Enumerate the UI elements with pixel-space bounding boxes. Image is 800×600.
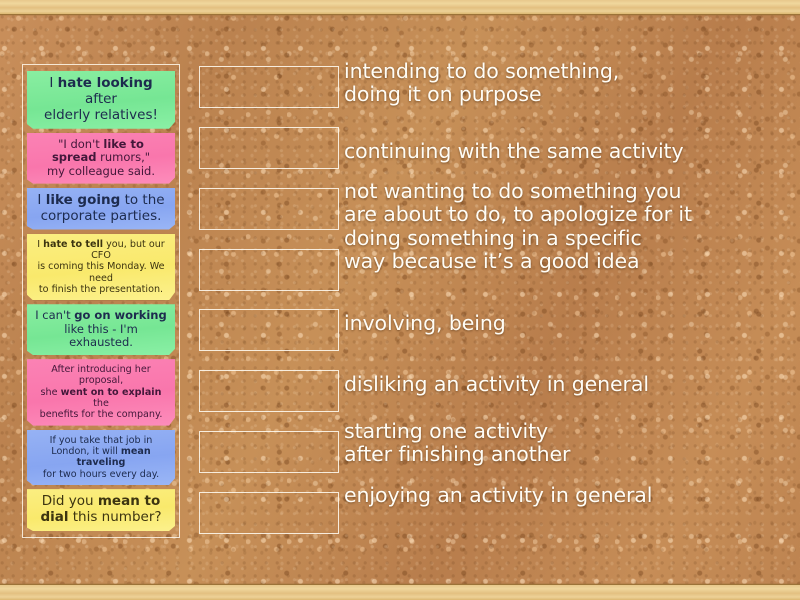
card-text: for two hours every day. — [43, 469, 159, 480]
card-keyword: like going — [46, 192, 121, 208]
card-line: like this - I'm exhausted. — [34, 323, 168, 350]
card-line: my colleague said. — [34, 165, 168, 179]
draggable-card[interactable]: Did you mean todial this number? — [27, 489, 175, 531]
definition-list: intending to do something, doing it on p… — [344, 60, 794, 530]
answer-dropzone[interactable] — [199, 66, 339, 108]
card-keyword: dial — [40, 509, 68, 525]
card-text: she — [41, 387, 61, 398]
answer-dropzone[interactable] — [199, 309, 339, 351]
card-text: rumors," — [96, 150, 150, 164]
card-text: to the — [120, 192, 164, 208]
draggable-card[interactable]: I like going to thecorporate parties. — [27, 188, 175, 230]
card-line: "I don't like to — [34, 138, 168, 152]
draggable-card[interactable]: I hate looking afterelderly relatives! — [27, 71, 175, 129]
definition-text: involving, being — [344, 312, 506, 335]
card-line: I hate looking after — [34, 76, 168, 108]
card-keyword: hate to tell — [43, 239, 103, 250]
card-text: the — [93, 398, 109, 409]
card-text: corporate parties. — [41, 208, 162, 224]
card-text: London, it will — [51, 446, 121, 457]
card-line: spread rumors," — [34, 151, 168, 165]
card-line: I hate to tell you, but our CFO — [34, 239, 168, 262]
definition-text: starting one activity after finishing an… — [344, 420, 570, 466]
card-text: this number? — [68, 509, 161, 525]
card-line: for two hours every day. — [34, 469, 168, 480]
draggable-card[interactable]: I can't go on workinglike this - I'm exh… — [27, 304, 175, 355]
card-text: you, but our CFO — [91, 239, 165, 261]
card-text: benefits for the company. — [40, 409, 163, 420]
card-line: dial this number? — [34, 510, 168, 526]
card-keyword: like to — [103, 137, 143, 151]
card-text: elderly relatives! — [44, 107, 158, 123]
card-keyword: mean to — [98, 493, 160, 509]
definition-text: disliking an activity in general — [344, 373, 649, 396]
card-text: I — [49, 75, 57, 91]
card-keyword: spread — [52, 150, 97, 164]
card-keyword: went on to explain — [61, 387, 162, 398]
draggable-card[interactable]: I hate to tell you, but our CFOis coming… — [27, 234, 175, 301]
draggable-card[interactable]: After introducing her proposal,she went … — [27, 359, 175, 426]
card-line: After introducing her proposal, — [34, 364, 168, 387]
answer-dropzone[interactable] — [199, 188, 339, 230]
card-text: I can't — [35, 308, 74, 322]
dropzone-column — [199, 66, 339, 534]
definition-text: enjoying an activity in general — [344, 484, 652, 507]
card-line: corporate parties. — [34, 209, 168, 225]
card-keyword: go on working — [74, 308, 166, 322]
card-text: my colleague said. — [47, 164, 155, 178]
answer-dropzone[interactable] — [199, 127, 339, 169]
card-text: is coming this Monday. We need — [37, 261, 164, 283]
card-text: I — [37, 192, 45, 208]
card-text: If you take that job in — [50, 435, 153, 446]
card-line: to finish the presentation. — [34, 284, 168, 295]
card-line: If you take that job in — [34, 435, 168, 446]
board-frame-top — [0, 0, 800, 15]
draggable-card[interactable]: "I don't like tospread rumors,"my collea… — [27, 133, 175, 184]
answer-dropzone[interactable] — [199, 370, 339, 412]
card-text: like this - I'm exhausted. — [64, 322, 138, 350]
card-line: benefits for the company. — [34, 409, 168, 420]
card-line: she went on to explain the — [34, 387, 168, 410]
card-text: after — [85, 91, 117, 107]
answer-dropzone[interactable] — [199, 492, 339, 534]
board-frame-bottom — [0, 584, 800, 600]
card-keyword: hate looking — [58, 75, 153, 91]
card-line: I can't go on working — [34, 309, 168, 323]
answer-dropzone[interactable] — [199, 431, 339, 473]
definition-text: not wanting to do something you are abou… — [344, 180, 692, 226]
card-line: is coming this Monday. We need — [34, 261, 168, 284]
card-text: Did you — [42, 493, 98, 509]
draggable-card[interactable]: If you take that job inLondon, it will m… — [27, 430, 175, 485]
draggable-card-stack: I hate looking afterelderly relatives!"I… — [22, 64, 180, 538]
card-line: London, it will mean traveling — [34, 446, 168, 469]
answer-dropzone[interactable] — [199, 249, 339, 291]
card-line: Did you mean to — [34, 494, 168, 510]
definition-text: continuing with the same activity — [344, 140, 684, 163]
card-line: elderly relatives! — [34, 108, 168, 124]
card-text: "I don't — [58, 137, 103, 151]
card-text: After introducing her proposal, — [51, 364, 150, 386]
definition-text: intending to do something, doing it on p… — [344, 60, 619, 106]
cork-board: I hate looking afterelderly relatives!"I… — [0, 0, 800, 600]
card-line: I like going to the — [34, 193, 168, 209]
definition-text: doing something in a specific way becaus… — [344, 227, 642, 273]
card-text: to finish the presentation. — [39, 284, 163, 295]
